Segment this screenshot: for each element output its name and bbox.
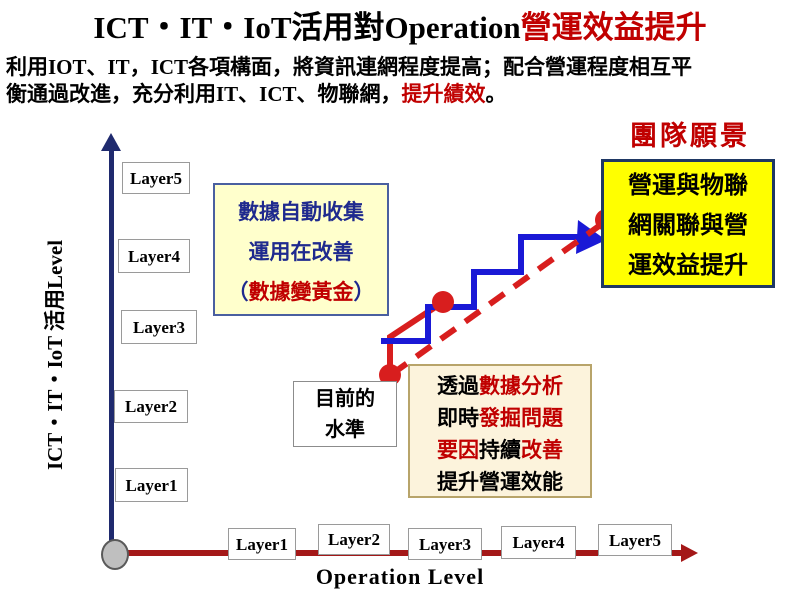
lead-paragraph: 利用IOT、IT，ICT各項構面，將資訊連網程度提高；配合營運程度相互平 衡通過…: [6, 54, 796, 108]
callout-analysis-line-4: 提升營運效能: [410, 466, 590, 498]
axis-origin-marker: [101, 539, 129, 570]
callout-data-paren-close: ）: [354, 280, 375, 304]
y-layer-label-3: Layer3: [133, 319, 185, 336]
page-title-red: 營運效益提升: [521, 10, 707, 45]
y-layer-label-5: Layer5: [130, 170, 182, 187]
callout-current-line-2: 水準: [294, 415, 396, 446]
vision-heading: 團隊願景: [601, 114, 779, 153]
callout-team-vision: 營運與物聯 網關聯與營 運效益提升: [601, 159, 775, 288]
improvement-staircase-line: [381, 237, 584, 341]
x-layer-label-1: Layer1: [236, 536, 288, 553]
y-layer-box-5: Layer5: [122, 162, 190, 194]
callout-analysis-l2-red: 發掘問題: [479, 406, 563, 430]
mid-progress-marker: [432, 291, 454, 313]
y-layer-box-4: Layer4: [118, 239, 190, 273]
callout-analysis-l1-red: 數據分析: [479, 374, 563, 398]
callout-analysis-l2-black: 即時: [437, 406, 479, 430]
callout-vision-line-3: 運效益提升: [604, 246, 772, 286]
y-layer-box-3: Layer3: [121, 310, 197, 344]
y-layer-box-2: Layer2: [114, 390, 188, 423]
lead-line-2-red: 提升績效: [402, 82, 486, 106]
x-layer-label-5: Layer5: [609, 532, 661, 549]
lead-line-1: 利用IOT、IT，ICT各項構面，將資訊連網程度提高；配合營運程度相互平: [6, 54, 796, 81]
x-axis-title: Operation Level: [190, 564, 610, 590]
lead-line-2-black: 衡通過改進，充分利用IT、ICT、物聯網，: [6, 82, 402, 106]
callout-analysis-l3-red-a: 要因: [437, 438, 479, 462]
callout-data-paren-open: （: [228, 280, 249, 304]
callout-vision-line-2: 網關聯與營: [604, 206, 772, 246]
callout-current-level: 目前的 水準: [293, 381, 397, 447]
y-layer-label-2: Layer2: [125, 398, 177, 415]
callout-vision-line-1: 營運與物聯: [604, 166, 772, 206]
callout-analysis-line-3: 要因持續改善: [410, 434, 590, 466]
callout-current-line-1: 目前的: [294, 384, 396, 415]
x-layer-box-3: Layer3: [408, 528, 482, 560]
callout-data-line-2: 運用在改善: [215, 232, 387, 272]
x-layer-label-4: Layer4: [513, 534, 565, 551]
x-layer-box-5: Layer5: [598, 524, 672, 556]
y-layer-box-1: Layer1: [115, 468, 188, 502]
page-title-black: ICT・IT・IoT活用對Operation: [93, 10, 520, 45]
callout-data-analysis: 透過數據分析 即時發掘問題 要因持續改善 提升營運效能: [408, 364, 592, 498]
callout-data-collection: 數據自動收集 運用在改善 （數據變黃金）: [213, 183, 389, 316]
callout-analysis-line-1: 透過數據分析: [410, 370, 590, 402]
y-axis-title: ICT・IT・IoT 活用Level: [39, 205, 69, 505]
x-layer-box-2: Layer2: [318, 524, 390, 555]
callout-data-line-3: （數據變黃金）: [215, 272, 387, 312]
vision-trend-dashed-line: [392, 221, 606, 374]
slide-canvas: ICT・IT・IoT活用對Operation營運效益提升 利用IOT、IT，IC…: [0, 0, 800, 598]
y-layer-label-1: Layer1: [126, 477, 178, 494]
x-layer-label-2: Layer2: [328, 531, 380, 548]
x-axis-arrowhead: [681, 544, 698, 562]
callout-analysis-line-2: 即時發掘問題: [410, 402, 590, 434]
callout-analysis-l1-black: 透過: [437, 374, 479, 398]
x-layer-label-3: Layer3: [419, 536, 471, 553]
callout-analysis-l3-red-b: 改善: [521, 438, 563, 462]
callout-analysis-l3-black: 持續: [479, 438, 521, 462]
callout-data-highlight: 數據變黃金: [249, 280, 354, 304]
page-title: ICT・IT・IoT活用對Operation營運效益提升: [0, 2, 800, 47]
y-axis-line: [109, 147, 114, 554]
callout-data-line-1: 數據自動收集: [215, 192, 387, 232]
y-layer-label-4: Layer4: [128, 248, 180, 265]
x-layer-box-1: Layer1: [228, 528, 296, 560]
x-layer-box-4: Layer4: [501, 526, 576, 559]
lead-line-2-tail: 。: [486, 82, 507, 106]
lead-line-2: 衡通過改進，充分利用IT、ICT、物聯網，提升績效。: [6, 81, 796, 108]
